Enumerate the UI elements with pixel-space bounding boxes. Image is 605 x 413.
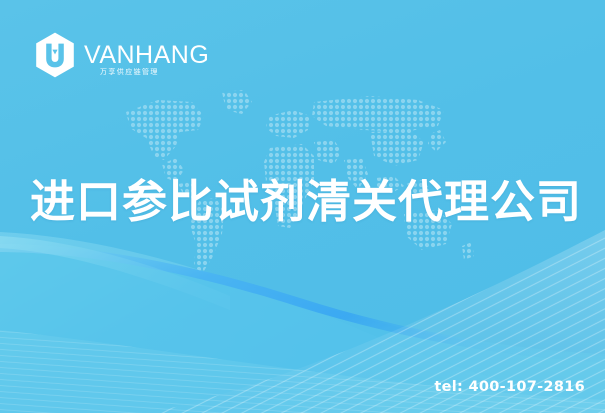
hexagon-u-icon	[33, 31, 77, 79]
brand-name-en: VANHANG	[84, 43, 209, 68]
brand-name-cn: 万享供应链管理	[100, 69, 159, 76]
brand-logo[interactable]: VANHANG 万享供应链管理	[33, 30, 209, 80]
page-title: 进口参比试剂清关代理公司	[30, 178, 582, 225]
banner: VANHANG 万享供应链管理 进口参比试剂清关代理公司 tel: 400-10…	[0, 0, 605, 413]
contact-phone[interactable]: tel: 400-107-2816	[434, 379, 585, 395]
brand-wordmark: VANHANG 万享供应链管理	[84, 43, 209, 68]
